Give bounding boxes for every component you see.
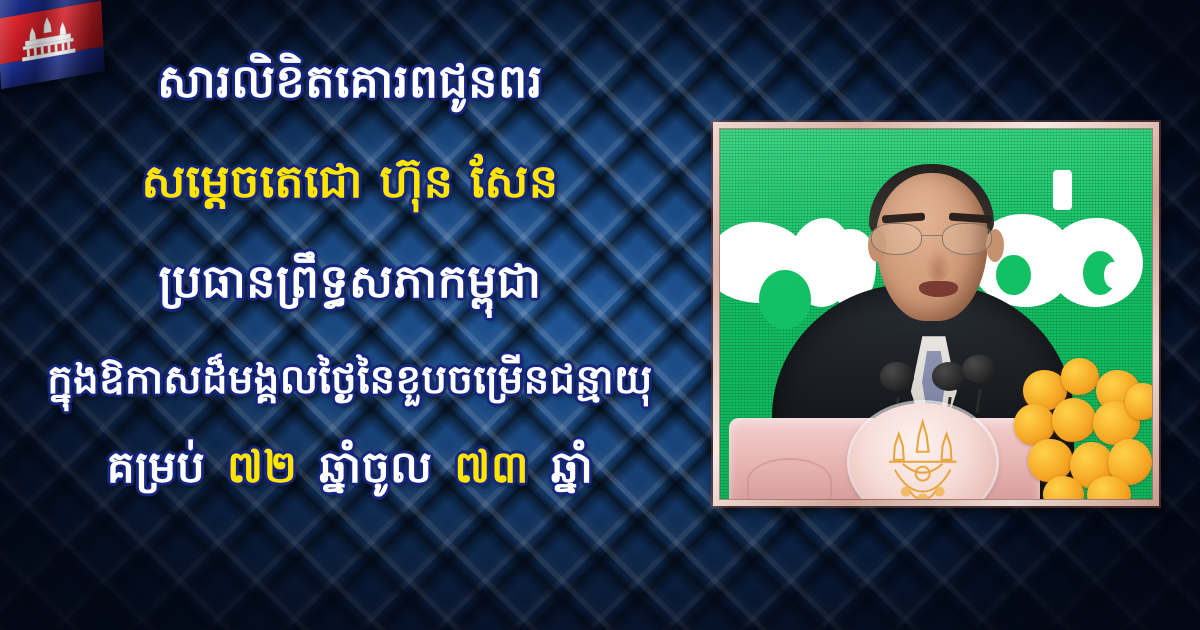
microphone-icon-1 (880, 362, 915, 403)
backdrop-glyph-mark (1053, 170, 1072, 211)
podium-ornament (747, 458, 832, 499)
portrait-photo (720, 129, 1152, 499)
age-suffix-label: ឆ្នាំ (551, 442, 593, 493)
royal-emblem-detail (861, 412, 984, 499)
greeting-line-2-name: សម្តេចតេជោ ហ៊ុន សែន (0, 158, 700, 204)
photo-frame (713, 122, 1159, 506)
speaker-nose (925, 247, 951, 280)
flower-bouquet (1014, 355, 1152, 499)
greeting-line-4-occasion: ក្នុងឱកាសដ៏មង្គលថ្ងៃនៃខួបចម្រើនជន្មាយុ (0, 360, 700, 400)
royal-emblem-icon (850, 403, 997, 499)
age-prefix-label: គម្រប់ (107, 442, 205, 493)
greeting-line-5-age: គម្រប់ ៧២ ឆ្នាំចូល ៧៣ ឆ្នាំ (0, 446, 700, 490)
greeting-line-1: សារលិខិតគោរពជូនពរ (0, 58, 700, 104)
microphone-icon-3 (962, 355, 997, 396)
age-current-number: ៧២ (221, 442, 303, 493)
greeting-banner: សារលិខិតគោរពជូនពរ សម្តេចតេជោ ហ៊ុន សែន ប្… (0, 0, 1200, 630)
glasses-bridge (921, 235, 943, 237)
greeting-text-block: សារលិខិតគោរពជូនពរ សម្តេចតេជោ ហ៊ុន សែន ប្… (0, 52, 700, 592)
lens-left (871, 223, 921, 255)
backdrop-glyph-dot (1104, 262, 1121, 288)
lens-right (942, 223, 992, 255)
age-middle-label: ឆ្នាំចូល (319, 442, 432, 493)
backdrop-glyph-hole-1 (759, 270, 811, 329)
age-next-number: ៧៣ (448, 442, 535, 493)
greeting-line-3-title: ប្រធានព្រឹទ្ធសភាកម្ពុជា (0, 258, 700, 304)
